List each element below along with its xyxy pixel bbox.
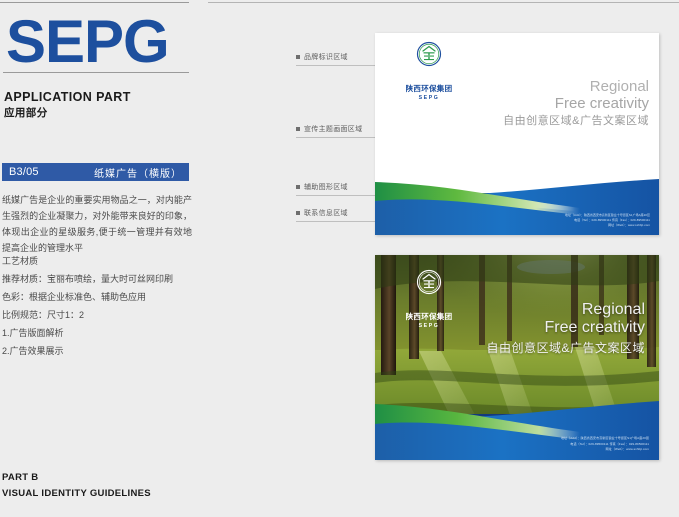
logo-company-cn: 陕西环保集团 [399, 311, 459, 322]
spec-item-1: 推荐材质：宝丽布喷绘，量大时可丝网印刷 [2, 270, 192, 288]
poster-preview-panel: 品牌标识区域 宣传主题画面区域 辅助图形区域 联系信息区域 [208, 0, 679, 517]
sepg-emblem-logo: 陕西环保集团 SEPG [399, 41, 459, 101]
contact-line-2: 网址（Web）：www.sxhbjt.com [565, 223, 650, 228]
section-code-bar: B3/05 纸媒广告（横版） [2, 163, 189, 181]
annotation-label: 联系信息区域 [304, 208, 348, 218]
application-part-cn: 应用部分 [4, 105, 48, 120]
leader-line [296, 195, 381, 196]
poster-contact-block-photo: 地址（Add）：陕西省西安市高新区锦业十号街区S1广场A座20层 电话（Tel）… [561, 436, 649, 452]
annotation-label: 宣传主题画面区域 [304, 124, 362, 134]
annotation-label: 辅助图形区域 [304, 182, 348, 192]
poster-contact-block: 地址（Add）：陕西省西安市高新区锦业十号街区S1广场A座20层 电话（Tel）… [565, 213, 650, 228]
logo-company-en: SEPG [399, 323, 459, 329]
application-part-en: APPLICATION PART [4, 90, 131, 104]
poster-headline-block: Regional Free creativity 自由创意区域&广告文案区域 [503, 78, 649, 130]
sepg-wordmark: SEPG [6, 14, 188, 70]
spec-item-0: 工艺材质 [2, 252, 192, 270]
left-info-column: SEPG APPLICATION PART 应用部分 B3/05 纸媒广告（横版… [0, 0, 196, 517]
footer-part-label: PART B [2, 472, 38, 483]
headline-regional: Regional [503, 78, 649, 95]
spec-item-4: 1.广告版面解析 [2, 324, 192, 342]
sepg-emblem-svg [399, 41, 459, 80]
poster-layout-card[interactable]: 陕西环保集团 SEPG Regional Free creativity 自由创… [375, 33, 659, 235]
headline-free-creativity: Free creativity [486, 319, 645, 337]
square-bullet-icon [296, 127, 300, 131]
sepg-emblem-svg-white [399, 269, 459, 308]
headline-cn: 自由创意区域&广告文案区域 [503, 113, 649, 130]
spec-item-5: 2.广告效果展示 [2, 342, 192, 360]
headline-regional: Regional [486, 301, 645, 319]
section-code: B3/05 [9, 166, 39, 178]
contact-line-2: 网址（Web）：www.sxhbjt.com [561, 447, 649, 452]
poster-mockup-card[interactable]: 陕西环保集团 SEPG Regional Free creativity 自由创… [375, 255, 659, 460]
square-bullet-icon [296, 211, 300, 215]
logo-company-en: SEPG [399, 95, 459, 101]
spec-list: 工艺材质 推荐材质：宝丽布喷绘，量大时可丝网印刷 色彩：根据企业标准色、辅助色应… [2, 252, 192, 360]
section-title: 纸媒广告（横版） [94, 165, 182, 180]
annotation-label: 品牌标识区域 [304, 52, 348, 62]
footer-guideline-title: VISUAL IDENTITY GUIDELINES [2, 488, 151, 499]
headline-free-creativity: Free creativity [503, 95, 649, 112]
headline-cn: 自由创意区域&广告文案区域 [486, 339, 645, 357]
square-bullet-icon [296, 55, 300, 59]
sepg-wordmark-text: SEPG [6, 14, 188, 70]
spec-item-2: 色彩：根据企业标准色、辅助色应用 [2, 288, 192, 306]
poster-headline-block-photo: Regional Free creativity 自由创意区域&广告文案区域 [486, 301, 645, 357]
contact-line-0: 地址（Add）：陕西省西安市高新区锦业十号街区S1广场A座20层 [561, 436, 649, 441]
wordmark-underline [3, 72, 189, 73]
logo-company-cn: 陕西环保集团 [399, 83, 459, 94]
sepg-emblem-logo-white: 陕西环保集团 SEPG [399, 269, 459, 329]
square-bullet-icon [296, 185, 300, 189]
spec-item-3: 比例规范：尺寸1：2 [2, 306, 192, 324]
section-description: 纸媒广告是企业的重要实用物品之一，对内能产生强烈的企业凝聚力，对外能带来良好的印… [2, 192, 192, 256]
